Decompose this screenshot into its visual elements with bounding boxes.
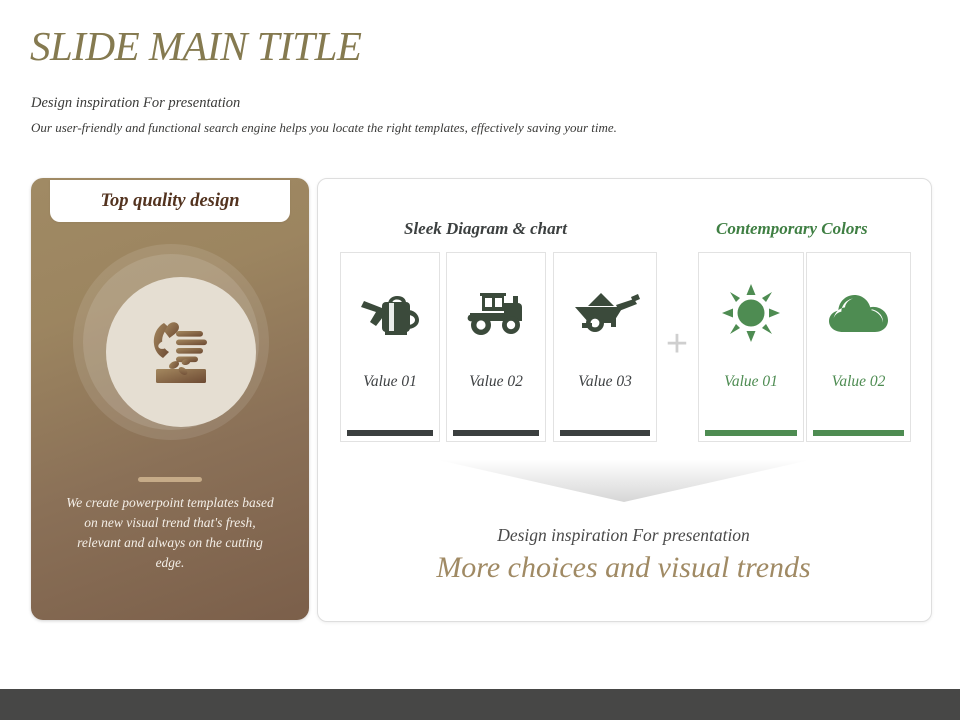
value-card-underline xyxy=(813,430,904,436)
group-heading-colors: Contemporary Colors xyxy=(716,219,868,239)
left-card-body: We create powerpoint templates based on … xyxy=(61,493,279,573)
value-card-wheelbarrow[interactable]: Value 03 xyxy=(553,252,657,442)
value-card-cloud[interactable]: Value 02 xyxy=(806,252,911,442)
value-card-underline xyxy=(705,430,797,436)
value-card-underline xyxy=(453,430,539,436)
footer-bar xyxy=(0,689,960,720)
watering-can-icon xyxy=(341,253,439,373)
value-card-label: Value 02 xyxy=(469,373,523,391)
slide-canvas: SLIDE MAIN TITLE Design inspiration For … xyxy=(0,0,960,720)
left-card-divider xyxy=(138,477,202,482)
down-chevron-icon xyxy=(438,460,810,502)
left-feature-card: We create powerpoint templates based on … xyxy=(31,178,309,620)
left-card-tab-label: Top quality design xyxy=(100,191,239,212)
value-card-label: Value 01 xyxy=(724,373,778,391)
sun-icon xyxy=(699,253,803,373)
hand-sowing-seeds-icon xyxy=(142,317,220,387)
value-card-label: Value 02 xyxy=(832,373,886,391)
panel-footer-headline: More choices and visual trends xyxy=(317,551,930,585)
cloud-icon xyxy=(807,253,910,373)
header-subtitle: Design inspiration For presentation xyxy=(31,95,240,112)
value-card-underline xyxy=(560,430,650,436)
tractor-icon xyxy=(447,253,545,373)
value-card-sun[interactable]: Value 01 xyxy=(698,252,804,442)
value-card-watering-can[interactable]: Value 01 xyxy=(340,252,440,442)
plus-separator: + xyxy=(662,330,692,360)
icon-halo-mid xyxy=(83,254,259,430)
icon-halo-outer xyxy=(73,244,269,440)
page-title: SLIDE MAIN TITLE xyxy=(30,22,361,70)
value-card-underline xyxy=(347,430,433,436)
value-card-tractor[interactable]: Value 02 xyxy=(446,252,546,442)
header-description: Our user-friendly and functional search … xyxy=(31,120,617,136)
left-card-tab[interactable]: Top quality design xyxy=(50,180,290,222)
wheelbarrow-icon xyxy=(554,253,656,373)
panel-footer-subtitle: Design inspiration For presentation xyxy=(317,525,930,546)
icon-medallion xyxy=(106,277,256,427)
value-card-label: Value 01 xyxy=(363,373,417,391)
value-card-label: Value 03 xyxy=(578,373,632,391)
group-heading-diagram: Sleek Diagram & chart xyxy=(404,219,567,239)
